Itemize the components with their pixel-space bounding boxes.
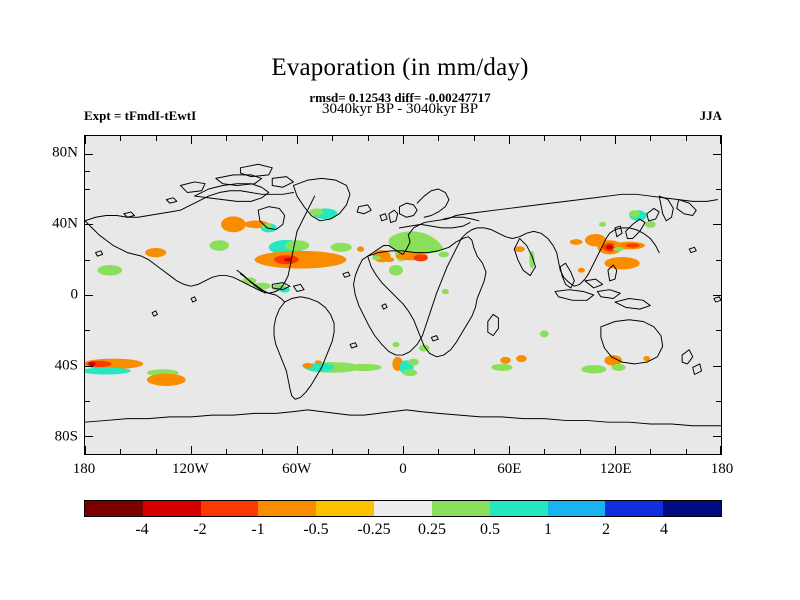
colorbar-segment <box>85 501 143 516</box>
y-tick-minor <box>85 330 90 331</box>
x-tick-minor <box>156 449 157 454</box>
colorbar-tick-label: 1 <box>544 521 552 539</box>
y-axis-label-2: 0 <box>71 287 79 304</box>
x-tick-major <box>403 446 404 454</box>
colorbar-segment <box>432 501 490 516</box>
x-tick-top <box>474 136 475 141</box>
y-tick-minor <box>85 401 90 402</box>
x-tick-minor <box>474 449 475 454</box>
colorbar-tick-label: 0.5 <box>480 521 500 539</box>
y-axis-label-3: 40S <box>55 358 78 375</box>
x-tick-minor <box>580 449 581 454</box>
colorbar-segment <box>143 501 201 516</box>
x-tick-top <box>368 136 369 141</box>
y-tick-right <box>713 366 721 367</box>
y-tick-major <box>85 154 93 155</box>
colorbar-segment <box>490 501 548 516</box>
colorbar-tick-label: 2 <box>602 521 610 539</box>
y-tick-right <box>713 224 721 225</box>
y-axis-label-1: 40N <box>52 215 78 232</box>
world-map-svg <box>85 136 721 454</box>
season-label: JJA <box>700 108 722 124</box>
y-tick-right <box>713 154 721 155</box>
x-tick-top <box>262 136 263 141</box>
x-axis-label-4: 60E <box>497 461 521 478</box>
colorbar-segment <box>316 501 374 516</box>
x-tick-top <box>191 136 192 144</box>
colorbar-tick-label: 4 <box>660 521 668 539</box>
y-tick-right <box>713 295 721 296</box>
colorbar-tick-label: -0.25 <box>357 521 390 539</box>
coastline-layer <box>85 164 721 425</box>
x-tick-major <box>509 446 510 454</box>
x-axis-label-0: 180 <box>73 461 96 478</box>
x-tick-top <box>332 136 333 141</box>
y-axis-label-4: 80S <box>55 429 78 446</box>
x-axis-label-5: 120E <box>600 461 632 478</box>
colorbar-segment <box>548 501 606 516</box>
x-tick-top <box>403 136 404 144</box>
y-tick-minor <box>85 171 90 172</box>
x-tick-major <box>615 446 616 454</box>
y-tick-minor <box>85 189 90 190</box>
y-axis-label-0: 80N <box>52 144 78 161</box>
x-tick-minor <box>544 449 545 454</box>
colorbar-segment <box>201 501 259 516</box>
experiment-label: Expt = tFmdI-tEwtI <box>84 108 196 124</box>
x-tick-minor <box>262 449 263 454</box>
colorbar-segment <box>663 501 721 516</box>
anomaly-layer <box>85 208 656 386</box>
x-tick-minor <box>650 449 651 454</box>
colorbar-tick-label: -1 <box>251 521 264 539</box>
x-axis-label-6: 180 <box>711 461 734 478</box>
x-tick-top <box>438 136 439 141</box>
x-tick-major <box>85 446 86 454</box>
x-tick-top <box>509 136 510 144</box>
y-tick-major <box>85 224 93 225</box>
x-tick-minor <box>332 449 333 454</box>
y-tick-major <box>85 436 93 437</box>
colorbar-tick-label: -4 <box>135 521 148 539</box>
x-tick-top <box>226 136 227 141</box>
x-axis-label-1: 120W <box>172 461 209 478</box>
y-tick-right <box>713 436 721 437</box>
x-tick-minor <box>368 449 369 454</box>
y-tick-right <box>716 189 721 190</box>
x-tick-top <box>85 136 86 144</box>
x-tick-top <box>720 136 721 144</box>
colorbar-tick-label: -2 <box>193 521 206 539</box>
x-axis-label-3: 0 <box>399 461 407 478</box>
y-tick-right <box>716 401 721 402</box>
colorbar-segment <box>258 501 316 516</box>
x-axis-label-2: 60W <box>282 461 311 478</box>
x-tick-top <box>544 136 545 141</box>
x-tick-top <box>120 136 121 141</box>
x-tick-minor <box>120 449 121 454</box>
map-plot-area[interactable] <box>84 135 722 455</box>
x-tick-top <box>156 136 157 141</box>
x-tick-major <box>297 446 298 454</box>
x-tick-top <box>650 136 651 141</box>
x-tick-minor <box>226 449 227 454</box>
colorbar-segment <box>605 501 663 516</box>
x-tick-top <box>580 136 581 141</box>
x-tick-top <box>297 136 298 144</box>
colorbar-segment <box>374 501 432 516</box>
x-tick-minor <box>438 449 439 454</box>
y-tick-major <box>85 295 93 296</box>
y-tick-minor <box>85 260 90 261</box>
page-title: Evaporation (in mm/day) <box>0 54 800 82</box>
colorbar-tick-label: -0.5 <box>303 521 328 539</box>
y-tick-major <box>85 366 93 367</box>
x-tick-major <box>720 446 721 454</box>
colorbar-tick-label: 0.25 <box>418 521 446 539</box>
y-tick-right <box>716 330 721 331</box>
x-tick-minor <box>686 449 687 454</box>
x-tick-major <box>191 446 192 454</box>
x-tick-top <box>615 136 616 144</box>
colorbar[interactable] <box>84 500 722 517</box>
x-tick-top <box>686 136 687 141</box>
y-tick-right <box>716 260 721 261</box>
